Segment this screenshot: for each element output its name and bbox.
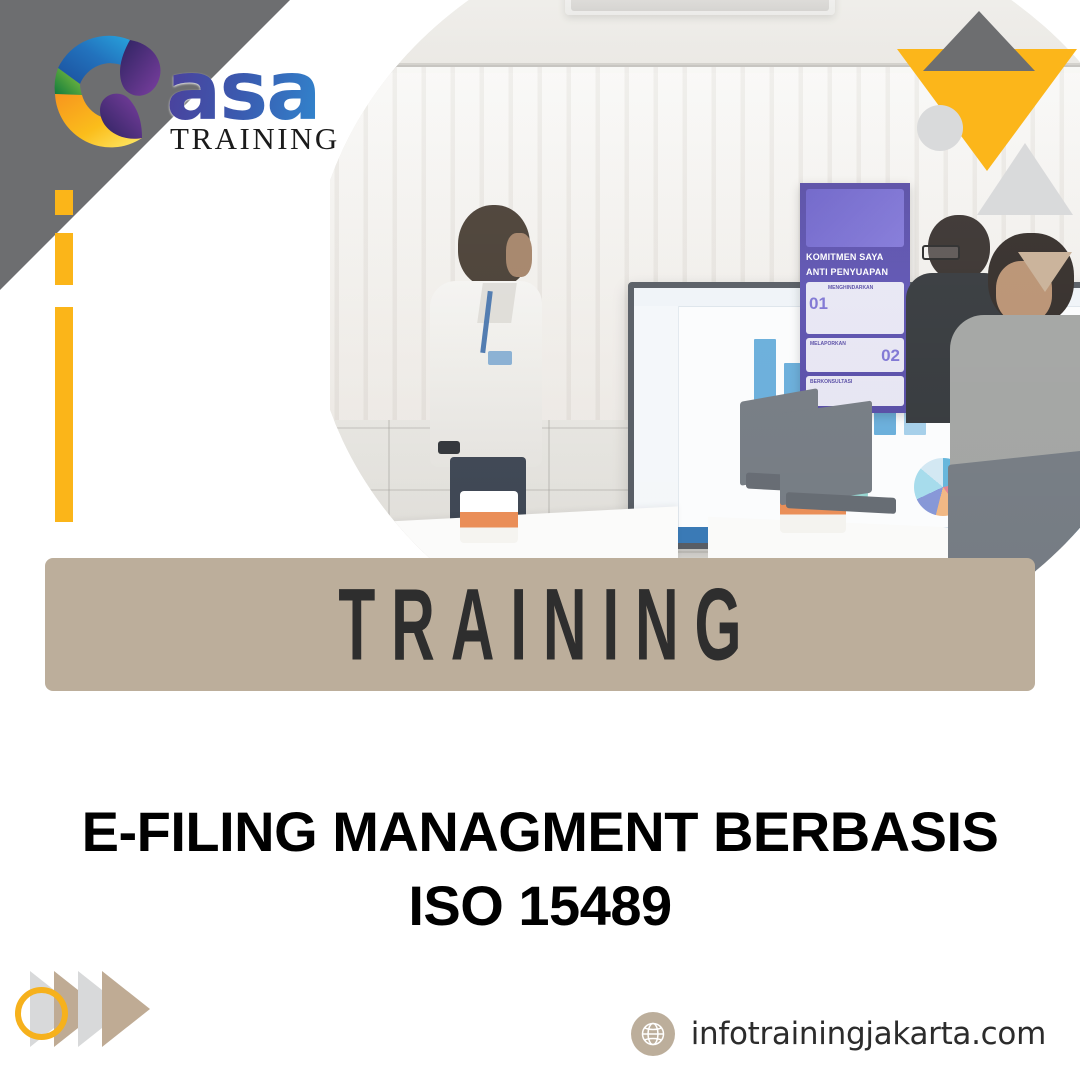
logo-wordmark: asa [166,58,340,125]
page-title: E-FILING MANAGMENT BERBASIS ISO 15489 [50,795,1030,943]
yellow-bar-medium [55,233,73,285]
training-banner-label: TRAINING [323,565,758,683]
yellow-bar-short [55,190,73,215]
yellow-circle-outline-icon [15,987,68,1040]
asa-training-logo: asa TRAINING [38,22,358,172]
chevron-arrows-decoration [10,962,210,1062]
website-url[interactable]: infotrainingjakarta.com [691,1016,1046,1052]
website-footer[interactable]: infotrainingjakarta.com [631,1012,1046,1056]
training-banner: TRAINING [45,558,1035,691]
asa-circular-swoosh-logo-icon [38,22,176,162]
globe-icon [631,1012,675,1056]
tan-triangle-down-icon [1018,252,1072,292]
yellow-bar-long [55,307,73,522]
title-line-1: E-FILING MANAGMENT BERBASIS [82,800,999,863]
flyer-canvas: KOMITMEN SAYA ANTI PENYUAPAN 01 MENGHIND… [0,0,1080,1080]
dark-gray-triangle-up-icon [923,11,1035,71]
light-gray-triangle-up-icon [977,143,1073,215]
light-gray-circle-icon [917,105,963,151]
chevron-icon-4 [102,971,150,1047]
title-line-2: ISO 15489 [50,869,1030,943]
